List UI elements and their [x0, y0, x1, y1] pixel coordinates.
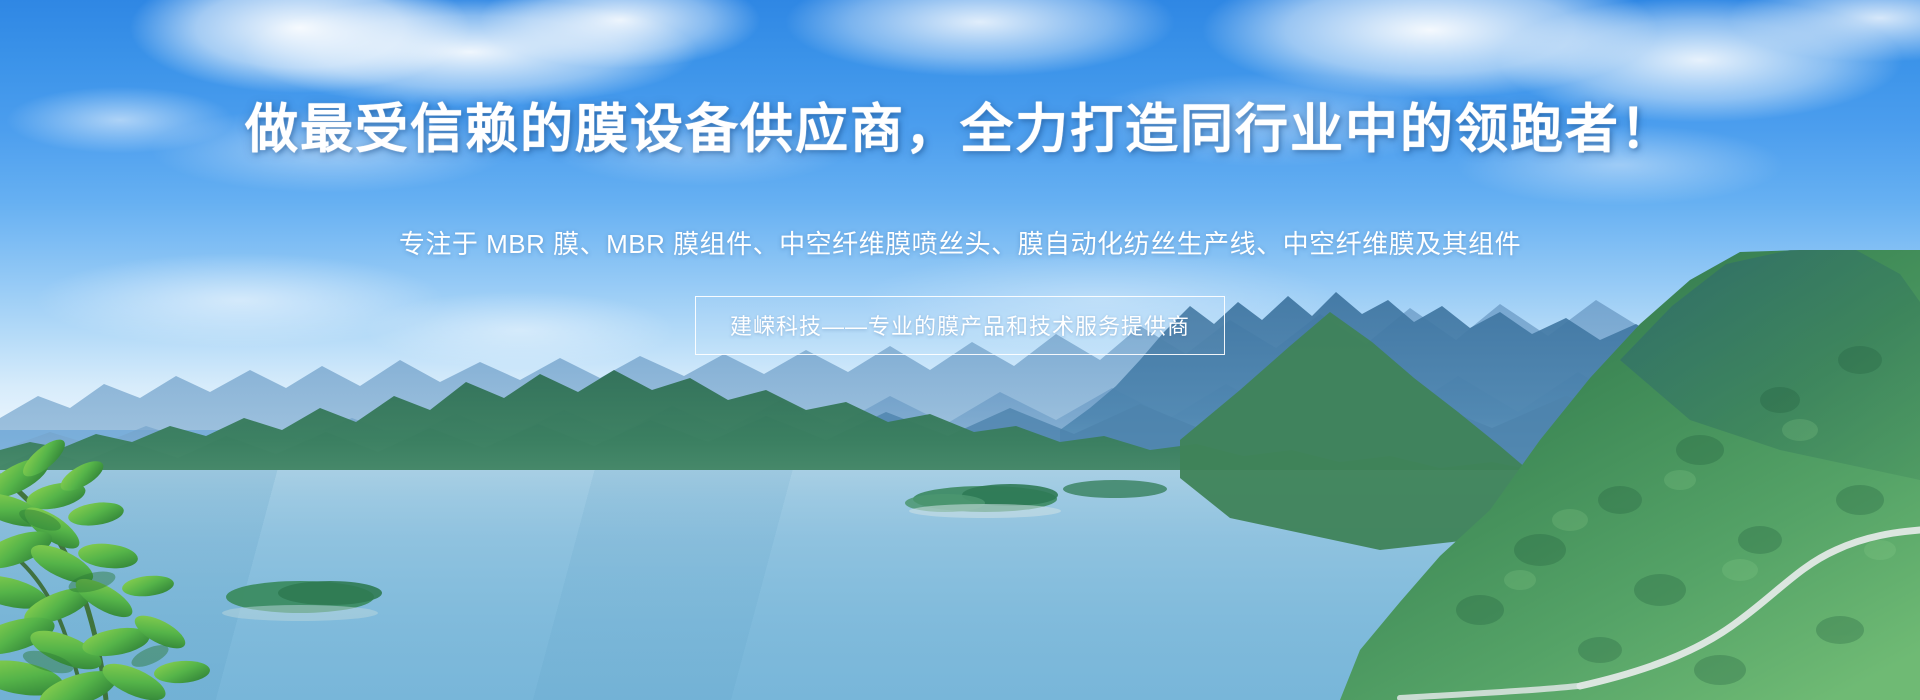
page-title: 做最受信赖的膜设备供应商，全力打造同行业中的领跑者！ — [0, 100, 1920, 161]
company-tagline-box: 建嵘科技——专业的膜产品和技术服务提供商 — [695, 296, 1225, 355]
tagline-container: 建嵘科技——专业的膜产品和技术服务提供商 — [0, 296, 1920, 355]
hero-text-overlay: 做最受信赖的膜设备供应商，全力打造同行业中的领跑者！ 专注于 MBR 膜、MBR… — [0, 0, 1920, 700]
hero-subtitle: 专注于 MBR 膜、MBR 膜组件、中空纤维膜喷丝头、膜自动化纺丝生产线、中空纤… — [0, 224, 1920, 261]
hero-banner: 做最受信赖的膜设备供应商，全力打造同行业中的领跑者！ 专注于 MBR 膜、MBR… — [0, 0, 1920, 700]
